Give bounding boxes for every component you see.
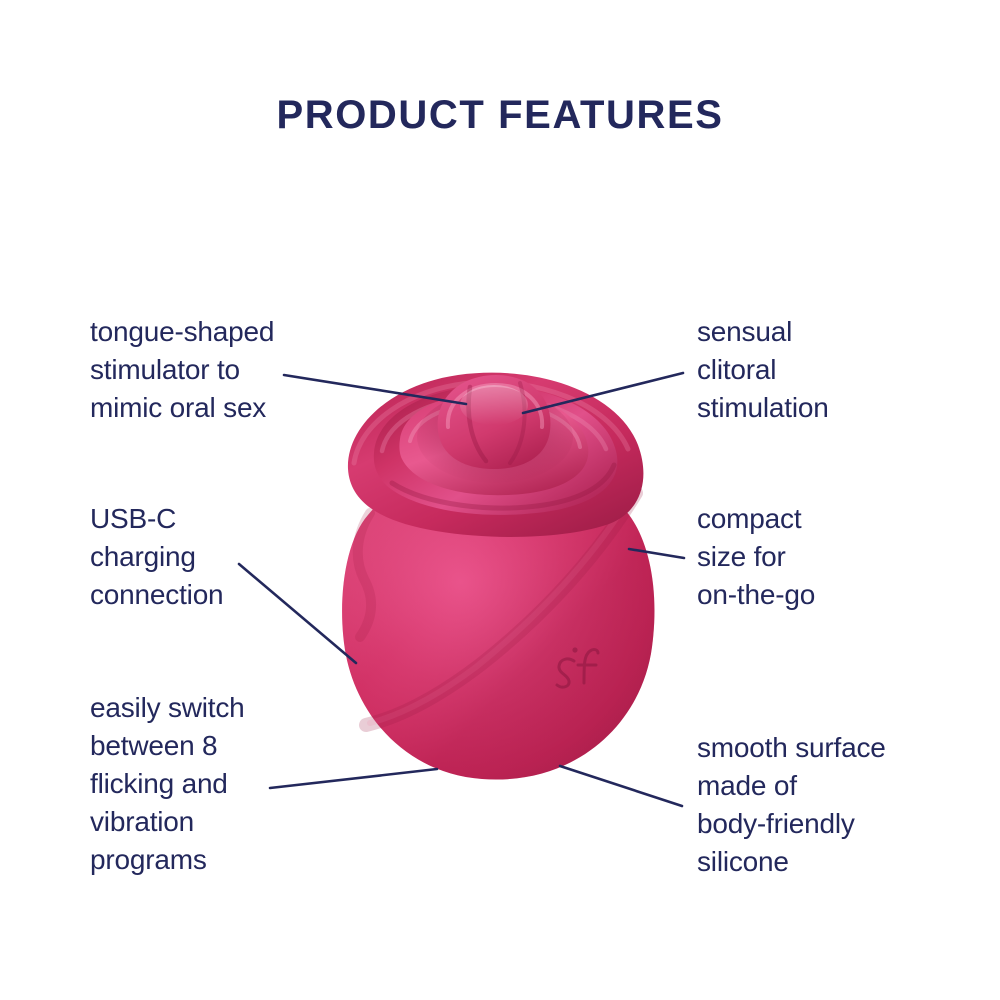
product-features-infographic: PRODUCT FEATURES bbox=[0, 0, 1000, 1000]
callout-usb-c-charging: USB-C charging connection bbox=[90, 500, 360, 614]
callout-flicking-vibration-programs: easily switch between 8 flicking and vib… bbox=[90, 689, 370, 879]
page-title: PRODUCT FEATURES bbox=[0, 93, 1000, 138]
callout-compact-size: compact size for on-the-go bbox=[697, 500, 977, 614]
callout-sensual-clitoral-stimulation: sensual clitoral stimulation bbox=[697, 313, 977, 427]
product-image bbox=[330, 365, 670, 785]
callout-smooth-silicone-surface: smooth surface made of body-friendly sil… bbox=[697, 729, 987, 881]
callout-tongue-shaped-stimulator: tongue-shaped stimulator to mimic oral s… bbox=[90, 313, 380, 427]
